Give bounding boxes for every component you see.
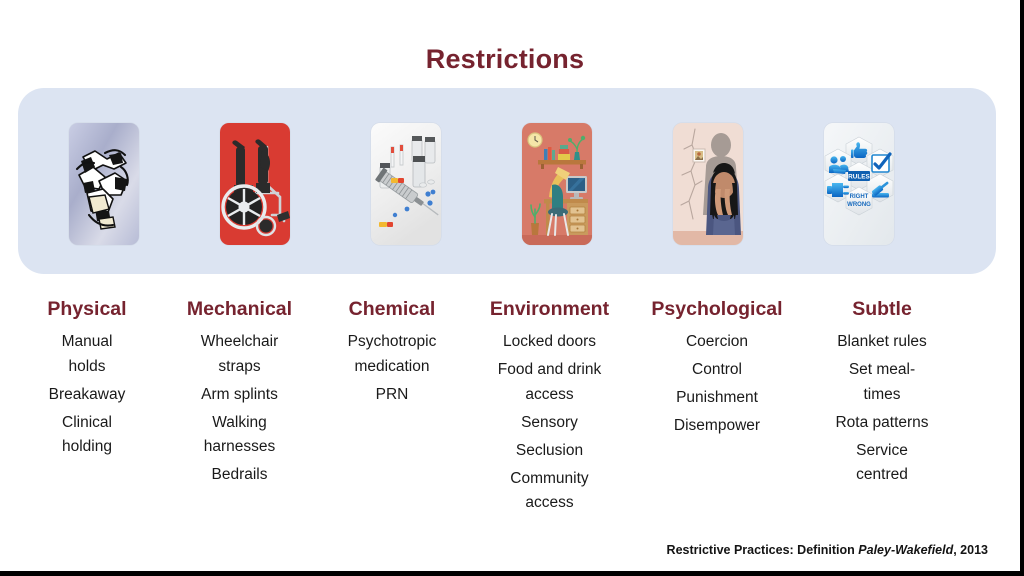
list-item: Bedrails [162,463,317,488]
slide-canvas: Restrictions [0,0,1024,576]
list-item: Arm splints [162,383,317,408]
list-item: Control [632,358,802,383]
column-heading-environment: Environment [467,296,632,322]
list-item: Communityaccess [467,467,632,516]
source-citation: Restrictive Practices: Definition Paley-… [667,543,988,557]
syringe-medication-photo [371,123,441,245]
right-label: RIGHT [850,194,869,200]
list-item: Blanket rules [802,330,962,355]
rules-label: RULES [848,174,870,181]
column-heading-mechanical: Mechanical [162,296,317,322]
image-panel: RULES [18,88,996,274]
column-subtle: Subtle Blanket rules Set meal-times Rota… [802,296,962,519]
list-item: Clinicalholding [12,411,162,460]
list-item: Walkingharnesses [162,411,317,460]
rules-hexagons-photo: RULES [824,123,894,245]
citation-prefix: Restrictive Practices: Definition [667,543,859,557]
column-physical: Physical Manualholds Breakaway Clinicalh… [12,296,162,519]
list-item: Manualholds [12,330,162,379]
column-chemical: Chemical Psychotropicmedication PRN [317,296,467,519]
list-item: Wheelchairstraps [162,330,317,379]
category-columns: Physical Manualholds Breakaway Clinicalh… [12,296,1012,519]
physical-restraint-photo [69,123,139,245]
list-item: Food and drinkaccess [467,358,632,407]
column-mechanical: Mechanical Wheelchairstraps Arm splints … [162,296,317,519]
column-heading-physical: Physical [12,296,162,322]
list-item: Psychotropicmedication [317,330,467,379]
list-item: Sensory [467,411,632,436]
citation-source: Paley-Wakefield [858,543,953,557]
list-item: PRN [317,383,467,408]
citation-suffix: , 2013 [953,543,988,557]
list-item: Coercion [632,330,802,355]
column-heading-subtle: Subtle [802,296,962,322]
column-psychological: Psychological Coercion Control Punishmen… [632,296,802,519]
psychological-abuse-photo [673,123,743,245]
list-item: Seclusion [467,439,632,464]
list-item: Disempower [632,414,802,439]
list-item: Punishment [632,386,802,411]
list-item: Breakaway [12,383,162,408]
list-item: Set meal-times [802,358,962,407]
column-heading-chemical: Chemical [317,296,467,322]
room-environment-photo [522,123,592,245]
list-item: Rota patterns [802,411,962,436]
list-item: Locked doors [467,330,632,355]
list-item: Servicecentred [802,439,962,488]
wheelchair-photo [220,123,290,245]
wrong-label: WRONG [847,202,871,208]
column-heading-psychological: Psychological [632,296,802,322]
page-title: Restrictions [0,44,1010,75]
column-environment: Environment Locked doors Food and drinka… [467,296,632,519]
